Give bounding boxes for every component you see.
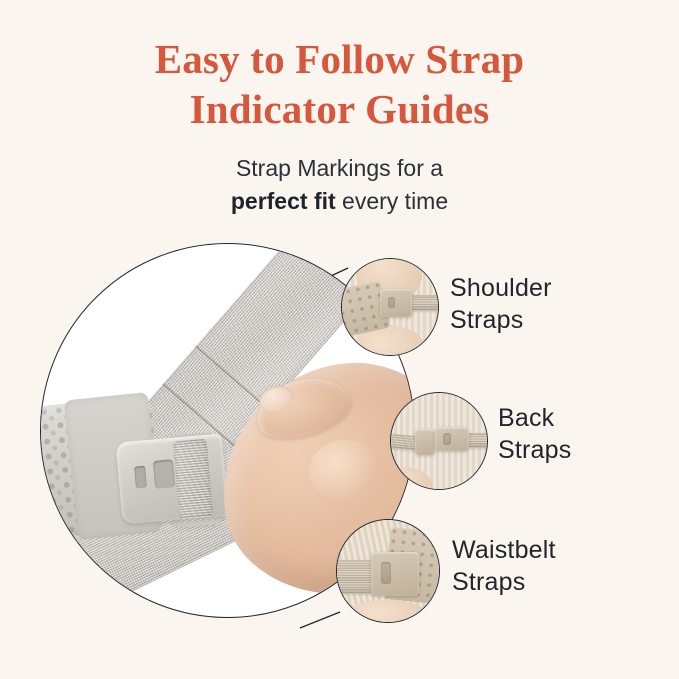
shoulder-buckle-slot xyxy=(388,297,395,308)
callout-circle-shoulder xyxy=(341,258,439,356)
callout-label-shoulder: Shoulder Straps xyxy=(450,272,552,336)
callout-label-back-line-1: Back xyxy=(498,404,554,432)
waistbelt-buckle-slot xyxy=(381,562,391,584)
infographic-canvas: Easy to Follow Strap Indicator Guides St… xyxy=(0,0,679,679)
buckle-webbing-roll xyxy=(173,439,214,520)
callout-label-shoulder-line-2: Straps xyxy=(450,304,552,336)
back-buckle-female-housing xyxy=(435,427,469,451)
back-buckle-slot xyxy=(443,433,451,445)
back-buckle-male-end xyxy=(415,429,435,455)
page-title: Easy to Follow Strap Indicator Guides xyxy=(0,34,679,134)
page-subtitle: Strap Markings for a perfect fit every t… xyxy=(0,152,679,218)
page-subtitle-emphasis: perfect fit xyxy=(231,188,336,214)
callout-label-waistbelt-line-1: Waistbelt xyxy=(452,536,556,564)
waistbelt-buckle xyxy=(371,552,419,596)
callout-circle-waistbelt xyxy=(336,519,440,623)
callout-label-waistbelt: Waistbelt Straps xyxy=(452,534,556,598)
callout-label-back: Back Straps xyxy=(498,402,571,466)
page-subtitle-line-2: perfect fit every time xyxy=(0,185,679,218)
callout-label-back-line-2: Straps xyxy=(498,434,571,466)
callout-label-waistbelt-line-2: Straps xyxy=(452,566,556,598)
callout-circle-back xyxy=(390,392,488,490)
shoulder-buckle xyxy=(380,289,412,317)
buckle-slot-right xyxy=(153,459,175,489)
page-title-line-2: Indicator Guides xyxy=(0,84,679,134)
page-title-line-1: Easy to Follow Strap xyxy=(155,36,525,82)
page-subtitle-line-2-rest: every time xyxy=(336,188,448,214)
buckle-slot-left xyxy=(134,466,147,489)
callout-label-shoulder-line-1: Shoulder xyxy=(450,274,552,302)
page-subtitle-line-1: Strap Markings for a xyxy=(236,155,443,181)
